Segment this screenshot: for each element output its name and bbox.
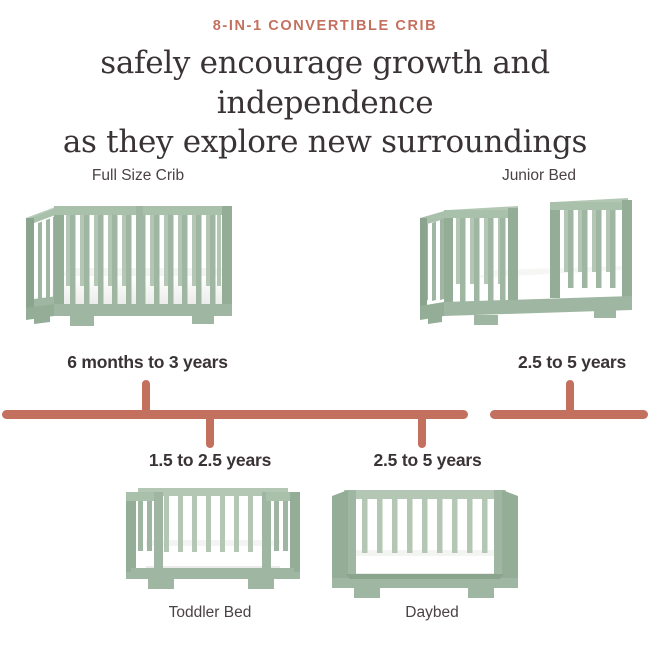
timeline-segment-main bbox=[2, 410, 468, 419]
caption-daybed: Daybed bbox=[392, 604, 472, 622]
illustration-daybed bbox=[328, 478, 524, 602]
age-label-daybed: 2.5 to 5 years bbox=[355, 450, 500, 471]
age-label-full-size-crib: 6 months to 3 years bbox=[45, 352, 250, 373]
illustration-junior-bed bbox=[418, 192, 642, 340]
age-label-junior-bed: 2.5 to 5 years bbox=[492, 352, 650, 373]
infographic-canvas: 8-IN-1 CONVERTIBLE CRIB safely encourage… bbox=[0, 0, 650, 650]
caption-junior-bed: Junior Bed bbox=[489, 167, 589, 185]
timeline-tick-daybed bbox=[418, 414, 426, 448]
headline-line-1: safely encourage growth and independence bbox=[100, 45, 549, 121]
eyebrow-label: 8-IN-1 CONVERTIBLE CRIB bbox=[0, 18, 650, 34]
timeline-tick-toddler-bed bbox=[206, 414, 214, 448]
caption-toddler-bed: Toddler Bed bbox=[155, 604, 265, 622]
page-title: safely encourage growth and independence… bbox=[0, 44, 650, 163]
headline-line-2: as they explore new surroundings bbox=[0, 123, 650, 163]
illustration-toddler-bed bbox=[116, 478, 308, 602]
age-label-toddler-bed: 1.5 to 2.5 years bbox=[130, 450, 290, 471]
illustration-full-size-crib bbox=[18, 192, 266, 340]
caption-full-size-crib: Full Size Crib bbox=[78, 167, 198, 185]
timeline-tick-full-size-crib bbox=[142, 380, 150, 414]
timeline-tick-junior-bed bbox=[566, 380, 574, 414]
